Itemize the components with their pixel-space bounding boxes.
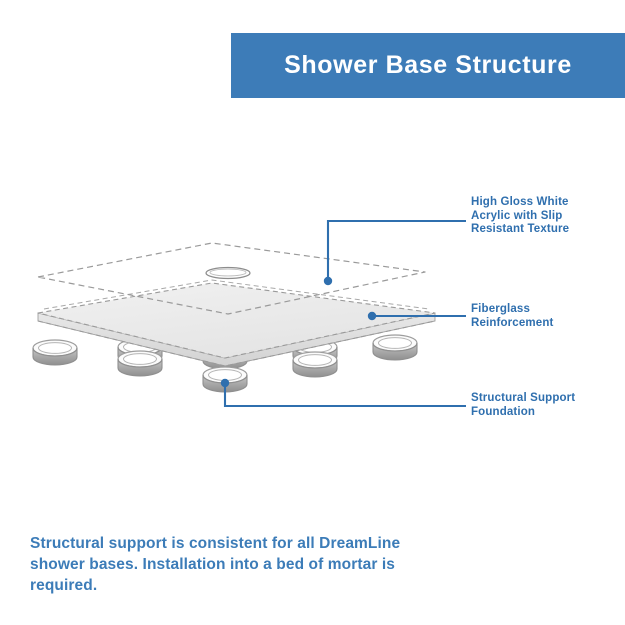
callout-label-support: Structural Support Foundation bbox=[471, 392, 621, 419]
drain-ellipse bbox=[206, 268, 250, 279]
shower-base-structure-page: Shower Base Structure bbox=[0, 0, 625, 625]
leader-line-support bbox=[221, 379, 466, 406]
support-ring bbox=[293, 352, 337, 377]
support-ring bbox=[33, 340, 77, 365]
support-ring bbox=[118, 351, 162, 376]
leader-line-acrylic bbox=[324, 221, 466, 285]
callout-label-fiberglass: Fiberglass Reinforcement bbox=[471, 303, 621, 330]
callout-label-acrylic: High Gloss White Acrylic with Slip Resis… bbox=[471, 196, 621, 237]
support-ring bbox=[373, 335, 417, 360]
bottom-caption: Structural support is consistent for all… bbox=[30, 533, 450, 596]
